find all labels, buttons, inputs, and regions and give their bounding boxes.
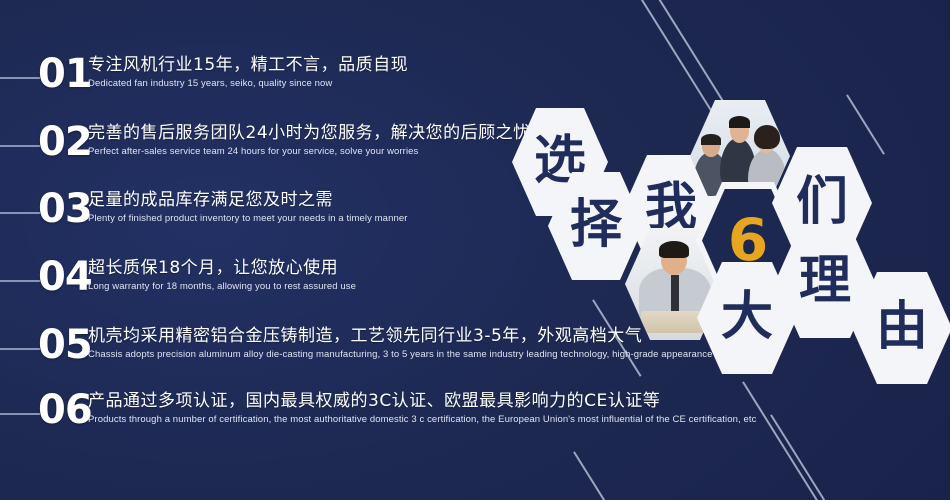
hexagon-glyph: 由	[876, 301, 928, 353]
row-dash	[0, 77, 40, 79]
person-center-hair	[729, 116, 750, 128]
reason-title-en: Products through a number of certificati…	[88, 413, 756, 426]
reason-title-cn: 完善的售后服务团队24小时为您服务，解决您的后顾之忧	[88, 122, 531, 144]
hexagon-glyph: 我	[645, 182, 697, 234]
hexagon-glyph: 大	[721, 291, 773, 343]
row-dash	[0, 280, 40, 282]
reason-title-en: Perfect after-sales service team 24 hour…	[88, 145, 531, 158]
reason-title-en: Long warranty for 18 months, allowing yo…	[88, 280, 356, 293]
reason-title-cn: 专注风机行业15年，精工不言，品质自现	[88, 54, 408, 76]
reason-number: 03	[38, 187, 92, 231]
reason-text: 足量的成品库存满足您及时之需 Plenty of finished produc…	[88, 189, 407, 225]
reason-title-cn: 足量的成品库存满足您及时之需	[88, 189, 407, 211]
reason-title-cn: 产品通过多项认证，国内最具权威的3C认证、欧盟最具影响力的CE认证等	[88, 390, 756, 412]
hexagon-glyph: 们	[796, 176, 848, 228]
reason-text: 产品通过多项认证，国内最具权威的3C认证、欧盟最具影响力的CE认证等 Produ…	[88, 390, 756, 426]
hexagon-glyph: 理	[799, 255, 851, 307]
reason-number: 04	[38, 255, 92, 299]
row-dash	[0, 212, 40, 214]
reason-number: 06	[38, 388, 92, 432]
reason-number: 01	[38, 52, 92, 96]
person-right-hair	[754, 125, 780, 150]
person-hair	[659, 241, 689, 258]
row-dash	[0, 413, 40, 415]
reason-number: 02	[38, 120, 92, 164]
row-dash	[0, 348, 40, 350]
reason-title-en: Dedicated fan industry 15 years, seiko, …	[88, 77, 408, 90]
hexagon-glyph: 6	[728, 214, 768, 266]
reason-text: 超长质保18个月，让您放心使用 Long warranty for 18 mon…	[88, 257, 356, 293]
reason-title-en: Plenty of finished product inventory to …	[88, 212, 407, 225]
reason-text: 专注风机行业15年，精工不言，品质自现 Dedicated fan indust…	[88, 54, 408, 90]
reason-title-cn: 超长质保18个月，让您放心使用	[88, 257, 356, 279]
banner-stage: 01 专注风机行业15年，精工不言，品质自现 Dedicated fan ind…	[0, 0, 950, 500]
person-left-hair	[701, 134, 721, 145]
hexagon-glyph: 择	[570, 199, 622, 251]
row-dash	[0, 145, 40, 147]
reason-title-en: Chassis adopts precision aluminum alloy …	[88, 348, 766, 361]
reason-number: 05	[38, 323, 92, 367]
reason-text: 完善的售后服务团队24小时为您服务，解决您的后顾之忧 Perfect after…	[88, 122, 531, 158]
